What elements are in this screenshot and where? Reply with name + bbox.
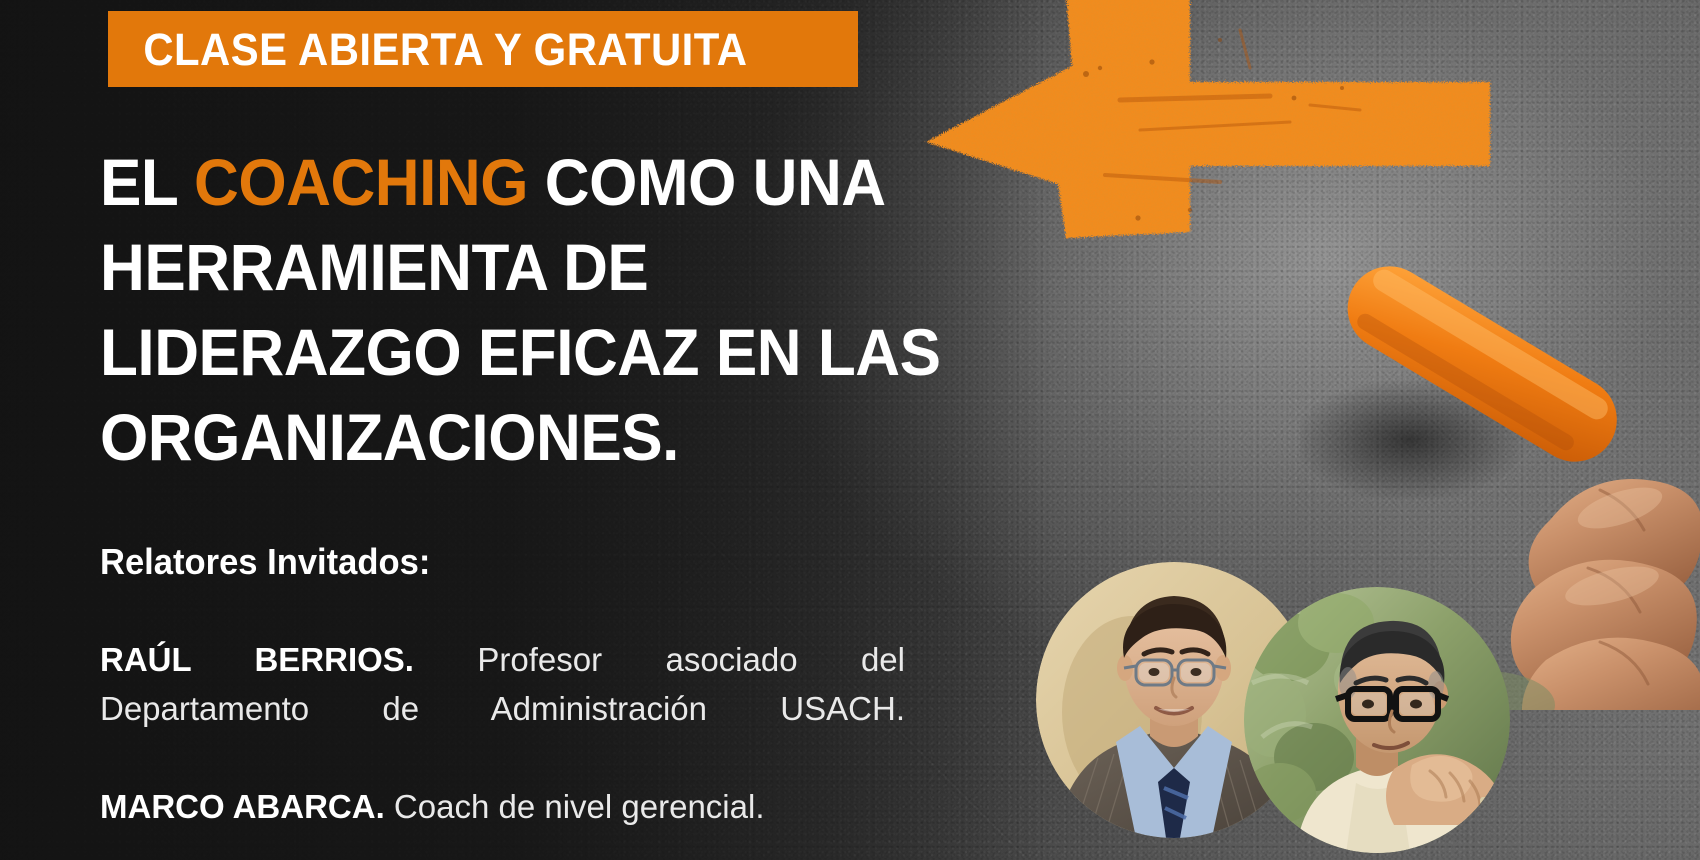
headline-accent-coaching: COACHING [194,145,528,219]
portrait-marco-abarca [1244,587,1510,853]
headline-line-1-post: COMO UNA [528,145,886,219]
badge-label: CLASE ABIERTA Y GRATUITA [108,27,747,72]
free-open-class-badge: CLASE ABIERTA Y GRATUITA [108,11,858,87]
speaker-entry-marco-abarca: MARCO ABARCA. Coach de nivel gerencial. [100,782,905,831]
headline-line-1: EL COACHING COMO UNA [100,140,1021,225]
speaker-name-marco-abarca: MARCO ABARCA. [100,788,385,825]
headline-line-4: ORGANIZACIONES. [100,395,1021,480]
speaker-entry-raul-berrios: RAÚL BERRIOS. Profesor asociado del Depa… [100,635,905,782]
speakers-bio-block: RAÚL BERRIOS. Profesor asociado del Depa… [100,635,905,831]
headline-line-2: HERRAMIENTA DE [100,225,1021,310]
headline-line-1-pre: EL [100,145,194,219]
page-title: EL COACHING COMO UNA HERRAMIENTA DE LIDE… [100,140,1080,480]
speaker-name-raul-berrios: RAÚL BERRIOS. [100,641,414,678]
headline-line-3: LIDERAZGO EFICAZ EN LAS [100,310,1021,395]
speakers-subheading: Relatores Invitados: [100,541,430,583]
poster-canvas: CLASE ABIERTA Y GRATUITA EL COACHING COM… [0,0,1700,860]
speaker-bio-marco-abarca: Coach de nivel gerencial. [385,788,765,825]
